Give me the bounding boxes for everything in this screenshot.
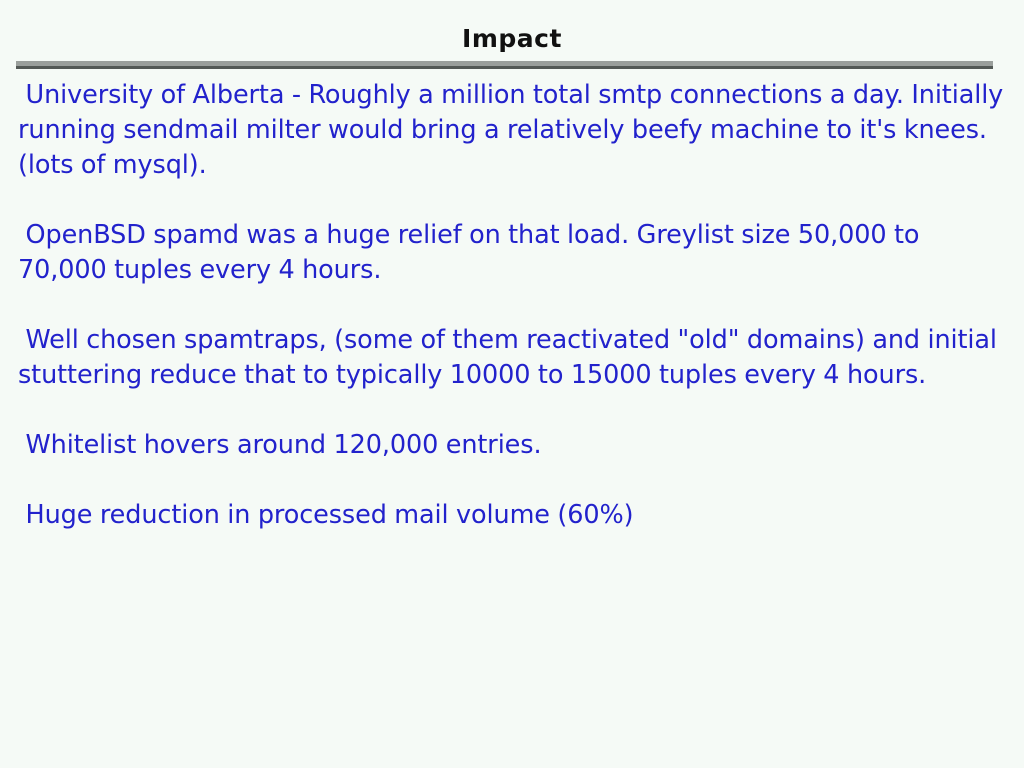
paragraph-whitelist-entries: Whitelist hovers around 120,000 entries. [18,428,1006,463]
paragraph-mail-volume-reduction: Huge reduction in processed mail volume … [18,498,1006,533]
slide-body: University of Alberta - Roughly a millio… [18,78,1006,533]
paragraph-university-of-alberta: University of Alberta - Roughly a millio… [18,78,1006,183]
paragraph-spamtraps-stuttering: Well chosen spamtraps, (some of them rea… [18,323,1006,393]
title-divider [16,61,993,69]
title-divider-dark-band [16,66,993,69]
slide: Impact University of Alberta - Roughly a… [0,0,1024,768]
paragraph-openbsd-spamd-greylist: OpenBSD spamd was a huge relief on that … [18,218,1006,288]
page-title: Impact [0,24,1024,54]
